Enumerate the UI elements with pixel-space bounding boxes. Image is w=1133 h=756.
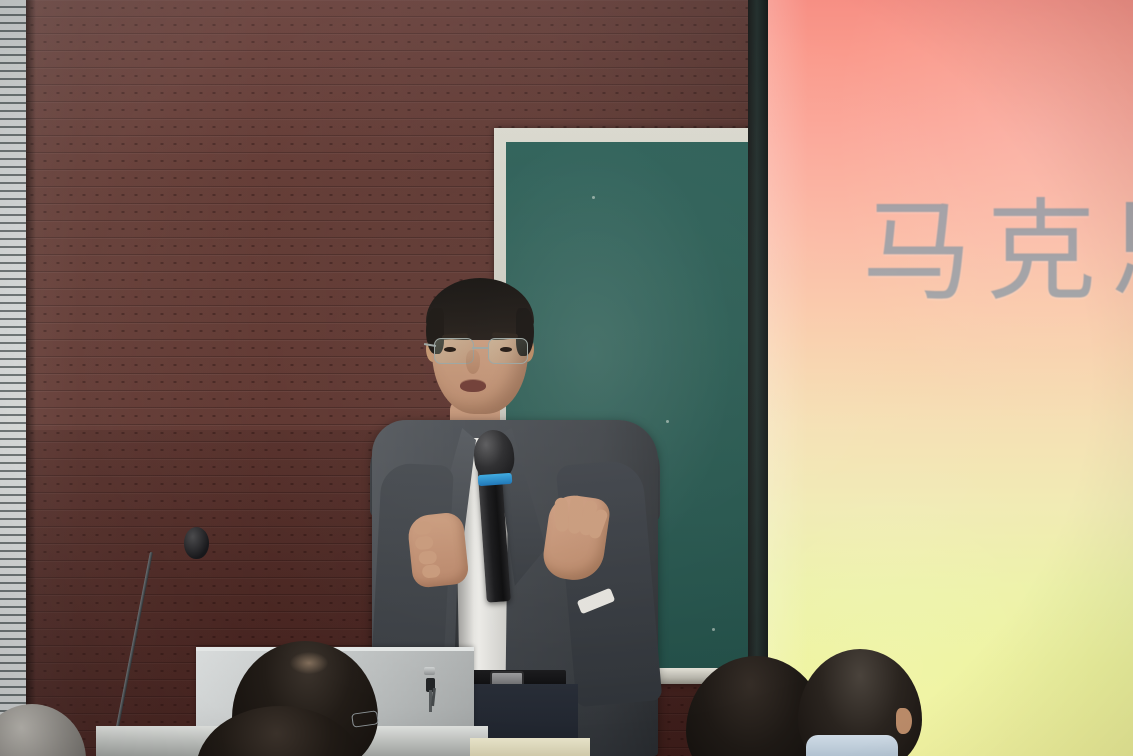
gooseneck-microphone-head	[184, 527, 209, 559]
audience-shirt-collar	[806, 735, 898, 756]
knuckle	[413, 521, 432, 536]
mouth	[460, 380, 486, 392]
projection-screen-edge-highlight	[768, 0, 808, 756]
handheld-microphone-accent-ring	[478, 473, 513, 486]
projection-screen	[768, 0, 1133, 756]
chalk-speck	[712, 628, 715, 631]
eyeglasses-icon	[430, 338, 534, 364]
nose	[466, 350, 480, 374]
eyeglass-bridge	[472, 347, 488, 349]
left-hand-holding-microphone	[406, 511, 469, 588]
projection-screen-bezel	[748, 0, 770, 756]
left-panel-shadow	[26, 0, 36, 745]
knuckle	[422, 564, 441, 579]
table-edge-right	[470, 738, 590, 756]
finger	[555, 498, 569, 532]
eye-left	[444, 347, 456, 352]
photograph-scene: 马克思	[0, 0, 1133, 756]
chalk-speck	[666, 420, 669, 423]
left-wall-louver-panel	[0, 0, 26, 745]
eye-right	[500, 347, 512, 352]
knuckle	[418, 550, 437, 565]
chalk-speck	[592, 196, 595, 199]
knuckle	[415, 536, 434, 551]
slide-title-text: 马克思	[862, 193, 1133, 312]
audience-ear	[896, 708, 912, 734]
lock-icon	[424, 667, 435, 675]
audience-scalp-highlight	[290, 652, 328, 674]
